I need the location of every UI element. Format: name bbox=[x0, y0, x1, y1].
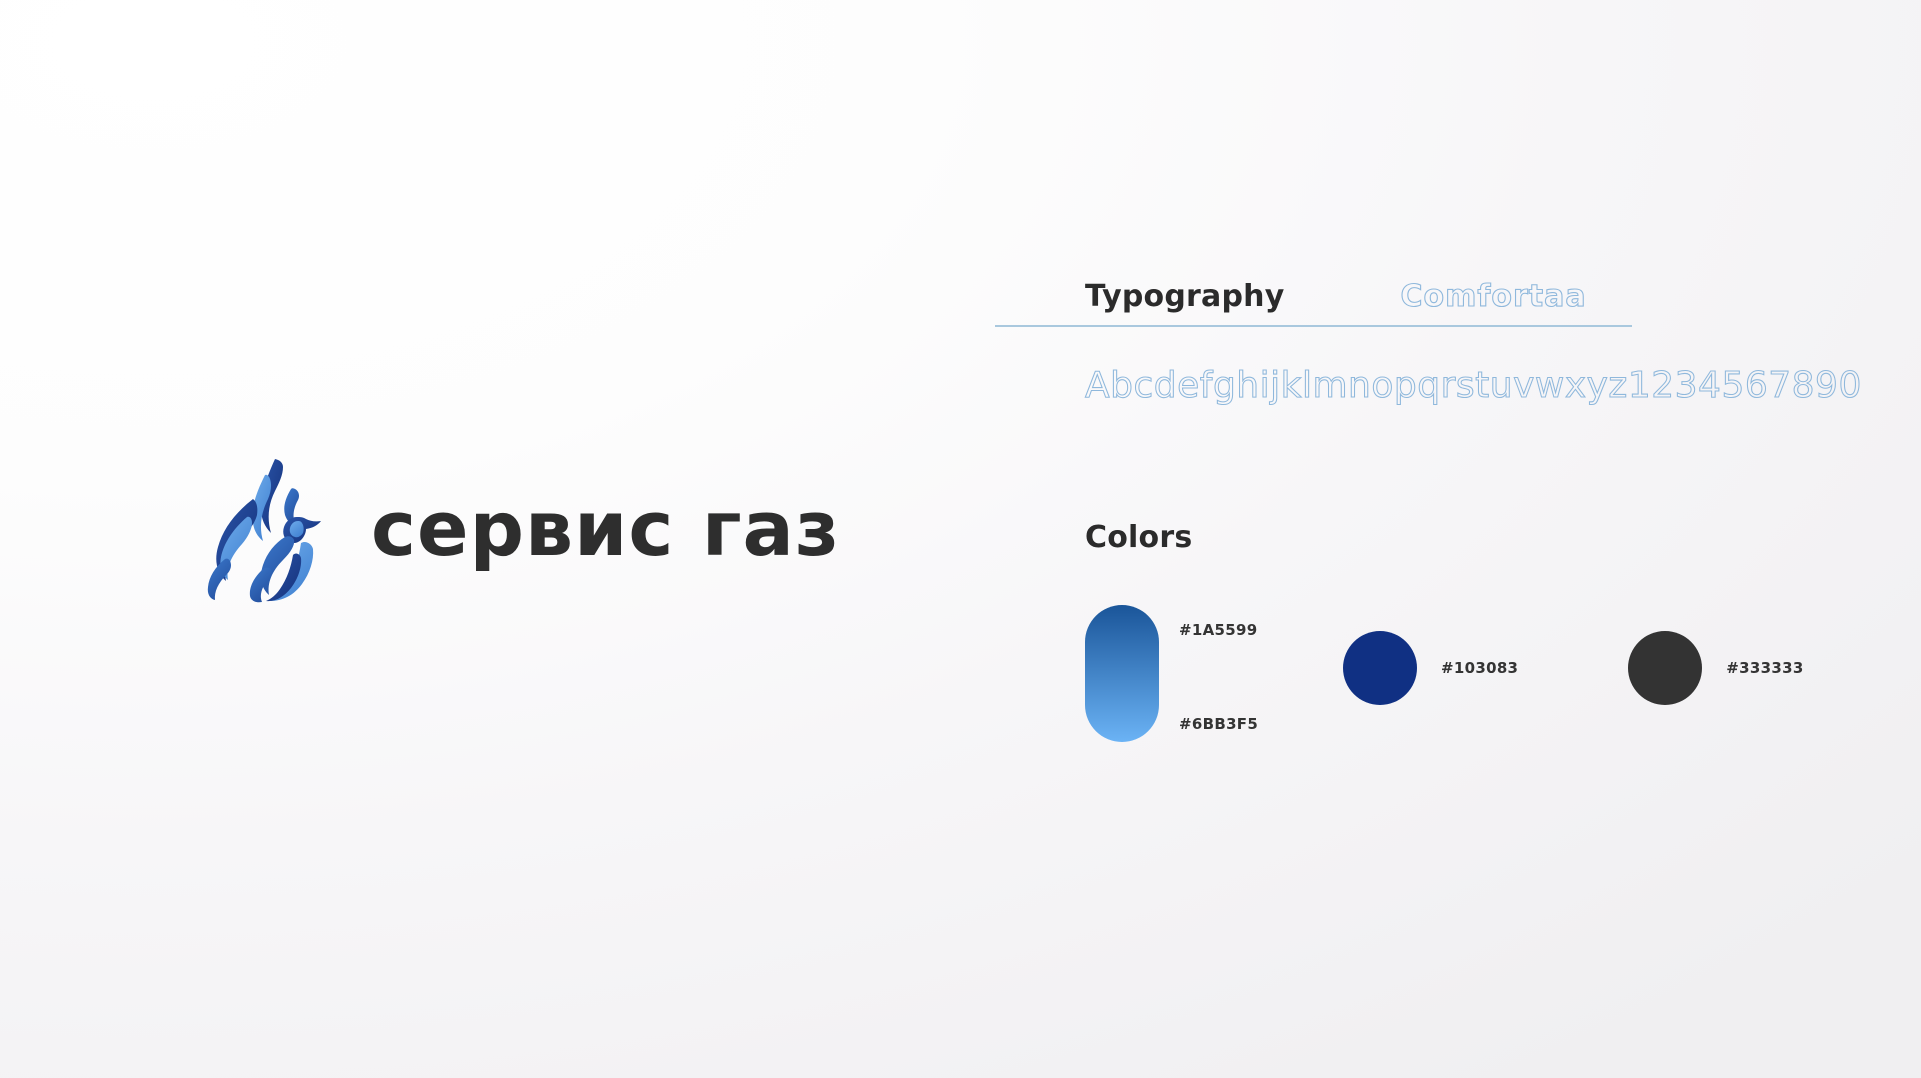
typography-section-title: Typography bbox=[1085, 280, 1284, 315]
gradient-swatch bbox=[1085, 605, 1159, 742]
alphabet-specimen: Abcdefghijklmnopqrstuvwxyz1234567890 bbox=[995, 363, 1755, 408]
brand-guide-panel: Typography Comfortaa Abcdefghijklmnopqrs… bbox=[995, 280, 1755, 765]
colors-section: Colors #1A5599 #6BB3F5 #103083 #333333 bbox=[995, 520, 1755, 765]
gradient-bottom-hex-label: #6BB3F5 bbox=[1179, 715, 1258, 733]
navy-swatch-group: #103083 bbox=[1343, 631, 1518, 705]
typography-section: Typography Comfortaa Abcdefghijklmnopqrs… bbox=[995, 280, 1755, 408]
gradient-swatch-group: #1A5599 #6BB3F5 bbox=[1085, 605, 1365, 742]
typeface-name-label: Comfortaa bbox=[1400, 280, 1586, 315]
color-swatch-row: #1A5599 #6BB3F5 #103083 #333333 bbox=[1085, 605, 1755, 765]
brand-wordmark: сервис газ bbox=[371, 491, 840, 567]
charcoal-hex-label: #333333 bbox=[1726, 659, 1803, 677]
gradient-top-hex-label: #1A5599 bbox=[1179, 621, 1257, 639]
phoenix-firebird-logo-icon bbox=[205, 455, 323, 603]
colors-section-title: Colors bbox=[1085, 520, 1755, 555]
navy-hex-label: #103083 bbox=[1441, 659, 1518, 677]
charcoal-swatch-group: #333333 bbox=[1628, 631, 1803, 705]
typography-divider-rule bbox=[995, 325, 1632, 327]
logo-lockup: сервис газ bbox=[205, 455, 840, 603]
typography-header-row: Typography Comfortaa bbox=[995, 280, 1755, 315]
charcoal-swatch bbox=[1628, 631, 1702, 705]
